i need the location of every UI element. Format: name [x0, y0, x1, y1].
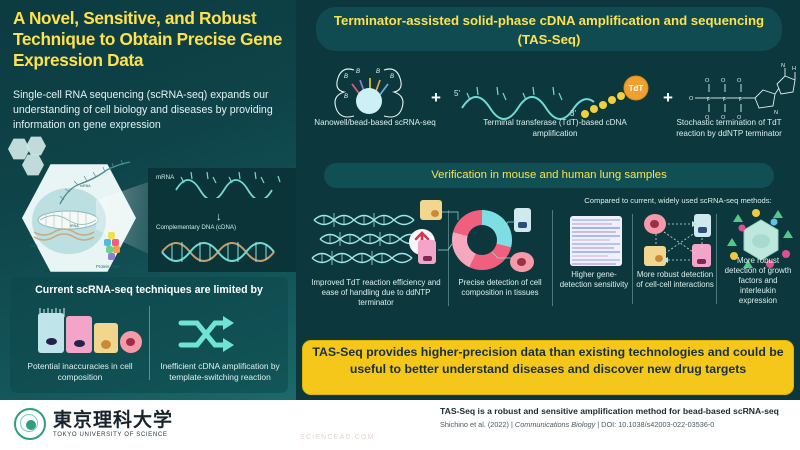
university-logo: 東京理科大学 TOKYO UNIVERSITY OF SCIENCE [14, 408, 173, 440]
tus-logo-icon [14, 408, 46, 440]
comparison-caption-3: More robust detection of growth factors … [720, 256, 796, 306]
label-mrna: mRNA [156, 174, 174, 181]
graphical-abstract: A Novel, Sensitive, and Robust Technique… [0, 0, 800, 450]
down-arrow-icon: ↓ [216, 212, 222, 223]
divider [632, 214, 633, 304]
svg-text:O: O [737, 78, 742, 84]
conclusion-text: TAS-Seq provides higher-precision data t… [303, 341, 793, 378]
divider [552, 210, 553, 306]
svg-text:B: B [390, 74, 394, 80]
svg-text:O: O [705, 78, 710, 84]
citation: TAS-Seq is a robust and sensitive amplif… [440, 406, 790, 429]
results-section: Compared to current, widely used scRNA-s… [302, 196, 794, 336]
plus-icon-1: + [431, 88, 441, 108]
svg-text:P: P [723, 97, 727, 103]
verification-banner: Verification in mouse and human lung sam… [324, 163, 774, 188]
citation-source: Shichino et al. (2022) | Communications … [440, 420, 790, 429]
logo-name-jp: 東京理科大学 [53, 410, 173, 430]
cell-types-icon [34, 313, 144, 357]
svg-text:N: N [774, 110, 778, 116]
divider [448, 210, 449, 306]
result-caption-2: Precise detection of cell composition in… [454, 278, 546, 298]
svg-text:O: O [721, 78, 726, 84]
label-cell-trna: tRNA [70, 224, 79, 228]
label-cdna: Complementary DNA (cDNA) [156, 224, 236, 231]
svg-text:P: P [739, 97, 743, 103]
svg-text:B: B [356, 69, 360, 75]
limitations-box: Current scRNA-seq techniques are limited… [10, 277, 288, 393]
svg-text:P: P [707, 97, 711, 103]
shuffle-arrows-icon [177, 314, 235, 354]
page-title: A Novel, Sensitive, and Robust Technique… [13, 8, 288, 71]
svg-text:TdT: TdT [629, 84, 644, 93]
comparison-caption-1: Higher gene-detection sensitivity [558, 270, 630, 290]
svg-text:N: N [781, 63, 785, 69]
comparison-title: Compared to current, widely used scRNA-s… [556, 196, 800, 205]
flow-caption-3: Stochastic termination of TdT reaction b… [664, 118, 794, 139]
svg-text:H: H [792, 66, 796, 72]
label-cell-mrna: mRNA [80, 184, 91, 188]
citation-title: TAS-Seq is a robust and sensitive amplif… [440, 406, 790, 417]
flow-caption-1: Nanowell/bead-based scRNA-seq [314, 118, 436, 129]
limitation-caption-2: Inefficient cDNA amplification by templa… [158, 361, 282, 383]
citation-doi: | DOI: 10.1038/s42003-022-03536-0 [595, 420, 714, 429]
method-flow-diagram: B B B B B + [304, 56, 794, 156]
limitation-caption-1: Potential inaccuracies in cell compositi… [18, 361, 142, 383]
watermark: SCIENCEAD.COM [300, 434, 375, 441]
cell-transcription-illustration: mRNA tRNA DNA Protein chain [4, 136, 154, 276]
label-3prime: 3' [570, 109, 576, 118]
method-title-banner: Terminator-assisted solid-phase cDNA amp… [316, 7, 782, 51]
mrna-cdna-illustration: mRNA ↓ Complementary DNA (cDNA) [148, 168, 296, 272]
label-cell-dna: DNA [30, 244, 38, 248]
label-protein-chain: Protein chain [96, 264, 120, 269]
label-5prime: 5' [454, 89, 460, 98]
page-subtitle: Single-cell RNA sequencing (scRNA-seq) e… [13, 88, 285, 134]
flow-caption-2: Terminal transferase (TdT)-based cDNA am… [472, 118, 638, 139]
citation-authors: Shichino et al. (2022) | [440, 420, 515, 429]
limitations-title: Current scRNA-seq techniques are limited… [10, 284, 288, 296]
heatmap-icon [570, 216, 622, 266]
svg-text:B: B [344, 94, 348, 100]
svg-text:B: B [376, 69, 380, 75]
svg-text:B: B [344, 74, 348, 80]
svg-text:O: O [689, 96, 694, 102]
left-panel: A Novel, Sensitive, and Robust Technique… [0, 0, 296, 400]
result-caption-1: Improved TdT reaction efficiency and eas… [306, 278, 446, 308]
protein-chain-icon [104, 232, 122, 266]
comparison-caption-2: More robust detection of cell-cell inter… [636, 270, 714, 290]
logo-name-en: TOKYO UNIVERSITY OF SCIENCE [53, 431, 173, 438]
divider [149, 306, 150, 380]
footer: 東京理科大学 TOKYO UNIVERSITY OF SCIENCE TAS-S… [0, 400, 800, 450]
conclusion-box: TAS-Seq provides higher-precision data t… [302, 340, 794, 395]
citation-journal: Communications Biology [515, 420, 595, 429]
plus-icon-2: + [663, 88, 673, 108]
